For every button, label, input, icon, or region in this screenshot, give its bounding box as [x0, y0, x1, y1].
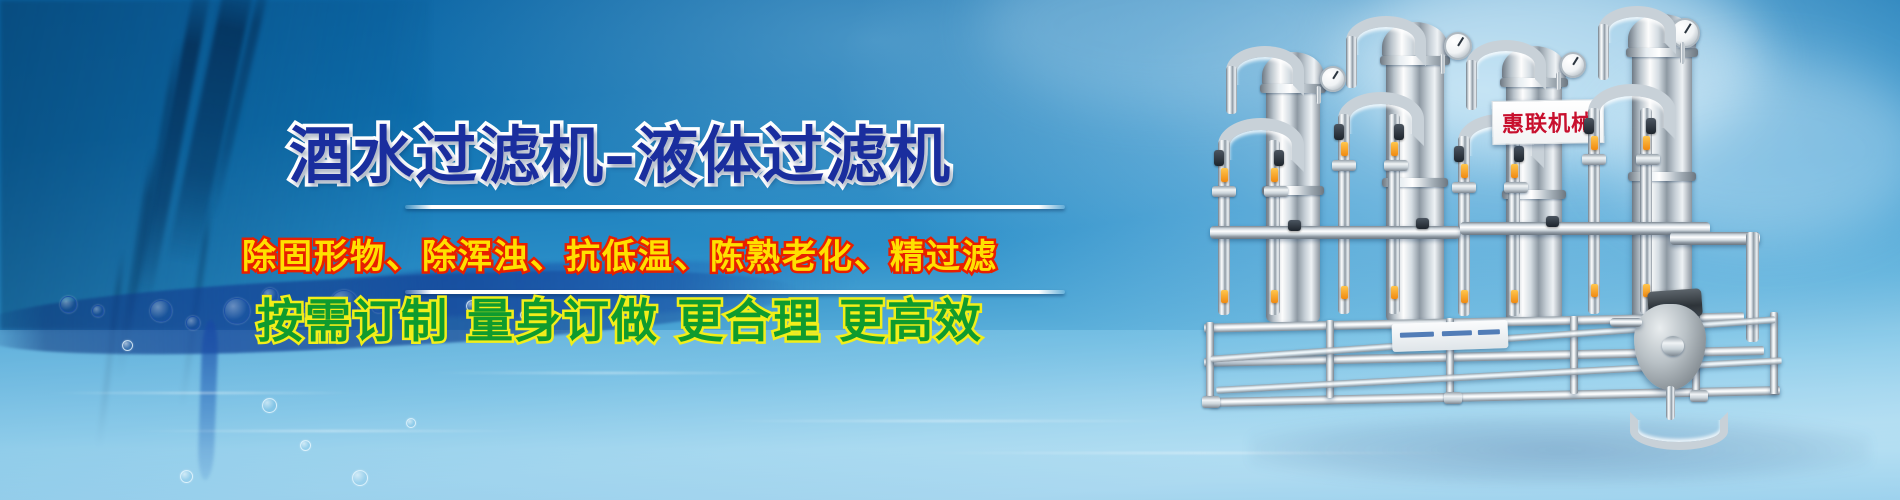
divider-line-top	[405, 205, 1065, 209]
sanitary-flange	[1636, 154, 1660, 165]
sanitary-flange	[1504, 182, 1528, 193]
orange-valve-handle	[1221, 290, 1228, 303]
u-bend-pipe	[1338, 92, 1424, 146]
orange-valve-handle	[1391, 142, 1398, 156]
caster-foot	[1690, 390, 1708, 402]
control-box	[1392, 320, 1509, 352]
valve-knob	[1584, 118, 1594, 134]
gauge-stem-pipe	[1316, 86, 1321, 104]
sanitary-flange	[1384, 160, 1408, 171]
pump-outlet-port	[1662, 336, 1684, 356]
orange-valve-handle	[1341, 142, 1348, 156]
pump-base-bracket	[1630, 412, 1728, 450]
riser-pipe	[1598, 24, 1609, 80]
orange-valve-handle	[1643, 136, 1650, 150]
pressure-gauge	[1560, 52, 1586, 78]
valve-knob	[1274, 150, 1284, 166]
u-bend-pipe	[1346, 16, 1426, 66]
sanitary-flange	[1452, 182, 1476, 193]
vessel-clamp-band	[1628, 172, 1696, 181]
valve-knob	[1514, 146, 1524, 162]
u-bend-pipe	[1226, 46, 1304, 96]
gauge-stem-pipe	[1440, 54, 1445, 74]
u-bend-pipe	[1588, 84, 1676, 140]
caster-foot	[1444, 392, 1462, 404]
sanitary-flange	[1264, 186, 1288, 197]
orange-valve-handle	[1511, 290, 1518, 303]
valve-knob	[1416, 218, 1429, 229]
u-bend-pipe	[1598, 6, 1676, 54]
riser-pipe	[1226, 66, 1237, 114]
orange-valve-handle	[1461, 290, 1468, 303]
orange-valve-handle	[1591, 136, 1598, 150]
banner-tagline: 按需订制 量身订做 更合理 更高效	[0, 298, 1240, 344]
orange-valve-handle	[1591, 284, 1598, 297]
banner-title: 酒水过滤机–液体过滤机	[0, 125, 1240, 187]
orange-valve-handle	[1271, 168, 1278, 182]
banner-subtitle: 除固形物、除浑浊、抗低温、陈熟老化、精过滤	[0, 240, 1240, 274]
valve-knob	[1334, 124, 1344, 140]
valve-knob	[1454, 146, 1464, 162]
orange-valve-handle	[1511, 164, 1518, 178]
sanitary-flange	[1582, 154, 1606, 165]
u-bend-pipe	[1466, 40, 1546, 90]
sanitary-flange	[1212, 186, 1236, 197]
control-box-label-stripe	[1478, 329, 1500, 335]
pressure-gauge	[1320, 66, 1346, 92]
orange-valve-handle	[1271, 290, 1278, 303]
valve-knob	[1288, 220, 1301, 231]
valve-knob	[1546, 216, 1559, 227]
valve-knob	[1214, 150, 1224, 166]
orange-valve-handle	[1341, 286, 1348, 299]
product-banner: 酒水过滤机–液体过滤机 除固形物、除浑浊、抗低温、陈熟老化、精过滤 按需订制 量…	[0, 0, 1900, 500]
headline-block: 酒水过滤机–液体过滤机 除固形物、除浑浊、抗低温、陈熟老化、精过滤 按需订制 量…	[0, 0, 1240, 500]
control-box-label-stripe	[1400, 332, 1434, 338]
gauge-stem-pipe	[1556, 72, 1561, 90]
valve-knob	[1394, 124, 1404, 140]
riser-pipe	[1466, 60, 1477, 110]
filter-machine-product-image: 惠联机械	[1230, 0, 1900, 500]
valve-knob	[1646, 118, 1656, 134]
riser-pipe	[1346, 36, 1357, 88]
sanitary-flange	[1332, 160, 1356, 171]
pump-inlet-pipe	[1610, 318, 1642, 327]
caster-foot	[1202, 396, 1220, 408]
outlet-pipe-down	[1746, 232, 1759, 342]
orange-valve-handle	[1221, 168, 1228, 182]
control-box-label-stripe	[1442, 330, 1472, 336]
frame-leg	[1770, 312, 1778, 394]
frame-leg	[1570, 316, 1578, 394]
gauge-stem-pipe	[1680, 42, 1685, 64]
orange-valve-handle	[1461, 164, 1468, 178]
orange-valve-handle	[1391, 286, 1398, 299]
u-bend-pipe	[1218, 118, 1304, 172]
